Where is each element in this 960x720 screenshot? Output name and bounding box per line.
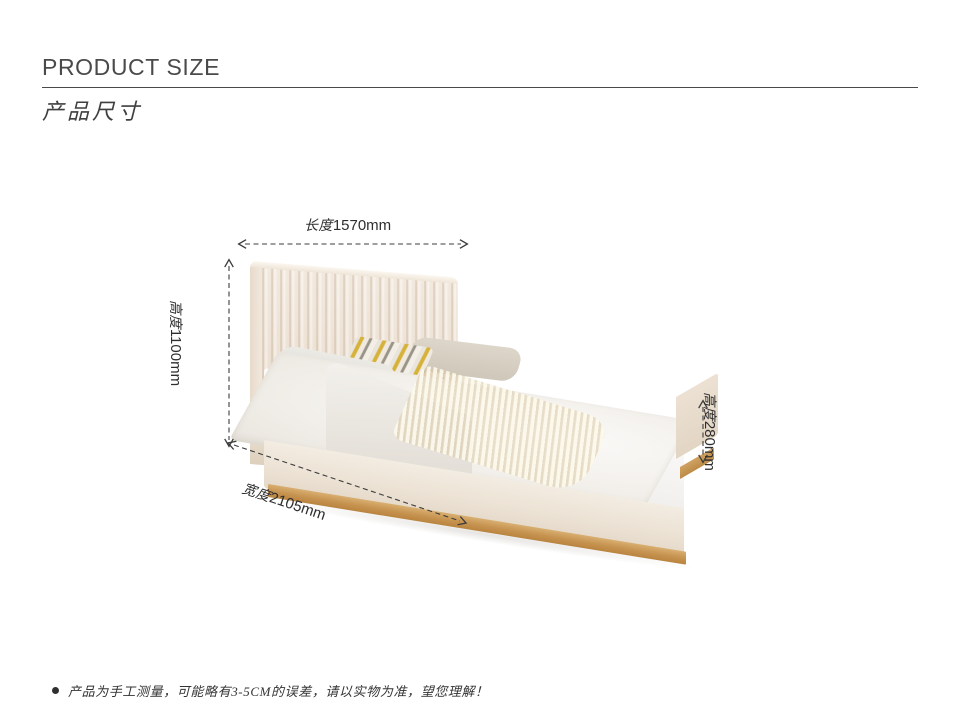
- dimension-label-height-base-text: 高度: [701, 392, 716, 421]
- dimension-label-height-total-text: 高度: [167, 300, 182, 329]
- dimension-label-height-base: 高度280mm: [700, 392, 720, 471]
- dimension-label-length: 长度1570mm: [304, 215, 391, 235]
- dimension-label-length-value: 1570mm: [333, 217, 391, 234]
- dimension-label-height-base-value: 280mm: [701, 421, 718, 471]
- dimension-label-height-total: 高度1100mm: [166, 300, 186, 386]
- arrow-width: [234, 445, 460, 521]
- dimension-arrows-svg: [0, 0, 960, 720]
- footnote-text: 产品为手工测量，可能略有3-5CM的误差，请以实物为准，望您理解！: [68, 681, 489, 700]
- dimension-annotations: 长度1570mm 高度1100mm 高度280mm 宽度2105mm: [0, 0, 960, 720]
- dimension-label-height-total-value: 1100mm: [167, 329, 184, 386]
- dimension-label-length-text: 长度: [304, 219, 333, 234]
- bullet-dot-icon: [52, 687, 59, 694]
- footnote: 产品为手工测量，可能略有3-5CM的误差，请以实物为准，望您理解！: [52, 681, 489, 700]
